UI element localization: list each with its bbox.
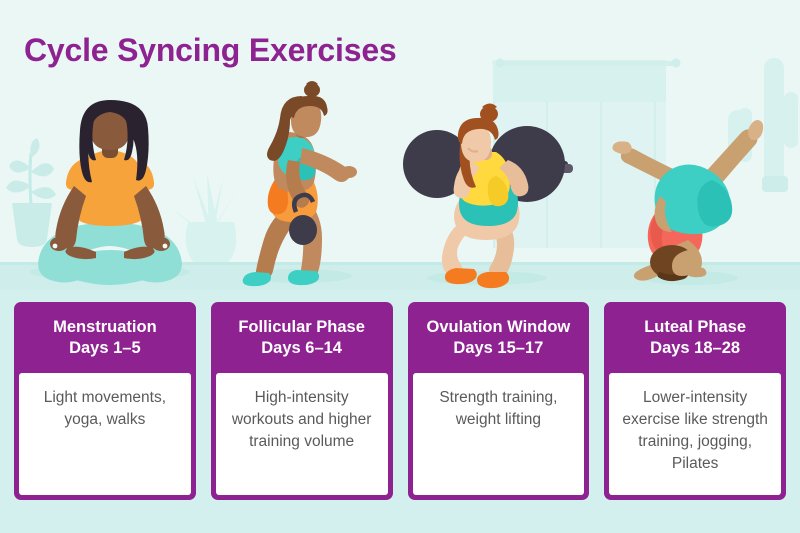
- phase-name: Menstruation: [22, 317, 188, 338]
- page-title: Cycle Syncing Exercises: [24, 33, 397, 68]
- phase-card-header: Luteal Phase Days 18–28: [604, 302, 786, 373]
- phase-card-header: Ovulation Window Days 15–17: [408, 302, 590, 373]
- phase-days: Days 6–14: [219, 338, 385, 359]
- phase-days: Days 15–17: [416, 338, 582, 359]
- phase-name: Follicular Phase: [219, 317, 385, 338]
- phase-card-header: Menstruation Days 1–5: [14, 302, 196, 373]
- phase-description: High-intensity workouts and higher train…: [216, 373, 388, 495]
- phase-card-ovulation: Ovulation Window Days 15–17 Strength tra…: [408, 302, 590, 500]
- phase-description: Lower-intensity exercise like strength t…: [609, 373, 781, 495]
- phase-name: Ovulation Window: [416, 317, 582, 338]
- phase-description: Light movements, yoga, walks: [19, 373, 191, 495]
- phase-card-list: Menstruation Days 1–5 Light movements, y…: [14, 302, 786, 500]
- cycle-syncing-infographic: Cycle Syncing Exercises Menstruation Day…: [0, 0, 800, 533]
- phase-description: Strength training, weight lifting: [413, 373, 585, 495]
- phase-card-menstruation: Menstruation Days 1–5 Light movements, y…: [14, 302, 196, 500]
- phase-days: Days 1–5: [22, 338, 188, 359]
- phase-name: Luteal Phase: [612, 317, 778, 338]
- phase-card-luteal: Luteal Phase Days 18–28 Lower-intensity …: [604, 302, 786, 500]
- phase-card-follicular: Follicular Phase Days 6–14 High-intensit…: [211, 302, 393, 500]
- phase-days: Days 18–28: [612, 338, 778, 359]
- phase-card-header: Follicular Phase Days 6–14: [211, 302, 393, 373]
